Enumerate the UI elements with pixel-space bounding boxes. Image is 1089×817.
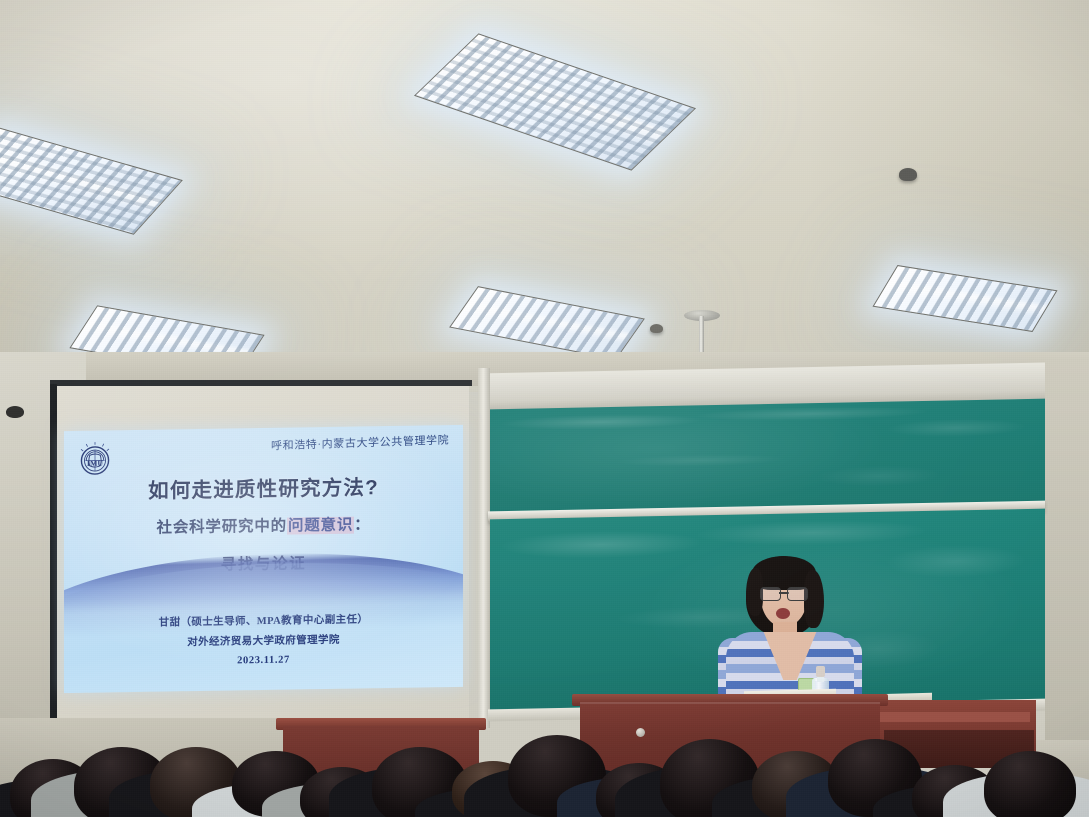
eyeglasses-icon (760, 587, 808, 599)
presentation-slide: IMU 呼和浩特·内蒙古大学公共管理学院 如何走进质性研究方法? 社会科学研究中… (64, 425, 463, 693)
subtitle-prefix: 社会科学研究中的 (157, 518, 287, 537)
seated-audience (0, 690, 1089, 817)
wall-sensor-icon (6, 406, 24, 418)
subtitle-suffix: ： (354, 516, 370, 533)
lens-left (760, 587, 781, 601)
audience-member-head (984, 751, 1076, 817)
presenter-mouth (776, 608, 790, 619)
bottle-cap (816, 666, 825, 677)
presenter-vneck (762, 632, 818, 680)
slide-header-text: 呼和浩特·内蒙古大学公共管理学院 (271, 432, 449, 454)
chalkboard-upper-panel (490, 399, 1045, 516)
chalkboard-left-frame (478, 368, 490, 728)
lecture-hall-photo: IMU 呼和浩特·内蒙古大学公共管理学院 如何走进质性研究方法? 社会科学研究中… (0, 0, 1089, 817)
lens-right (787, 587, 808, 601)
slide-subtitle-line1: 社会科学研究中的问题意识： (64, 511, 463, 539)
ceiling-fixture-icon (650, 324, 663, 333)
ceiling-fixture-icon (899, 168, 917, 181)
svg-text:IMU: IMU (87, 459, 103, 468)
slide-date-text: 2023.11.27 (64, 652, 463, 669)
chalk-dust (490, 399, 1045, 516)
subtitle-highlight: 问题意识 (287, 517, 354, 535)
slide-title: 如何走进质性研究方法? (64, 469, 463, 505)
